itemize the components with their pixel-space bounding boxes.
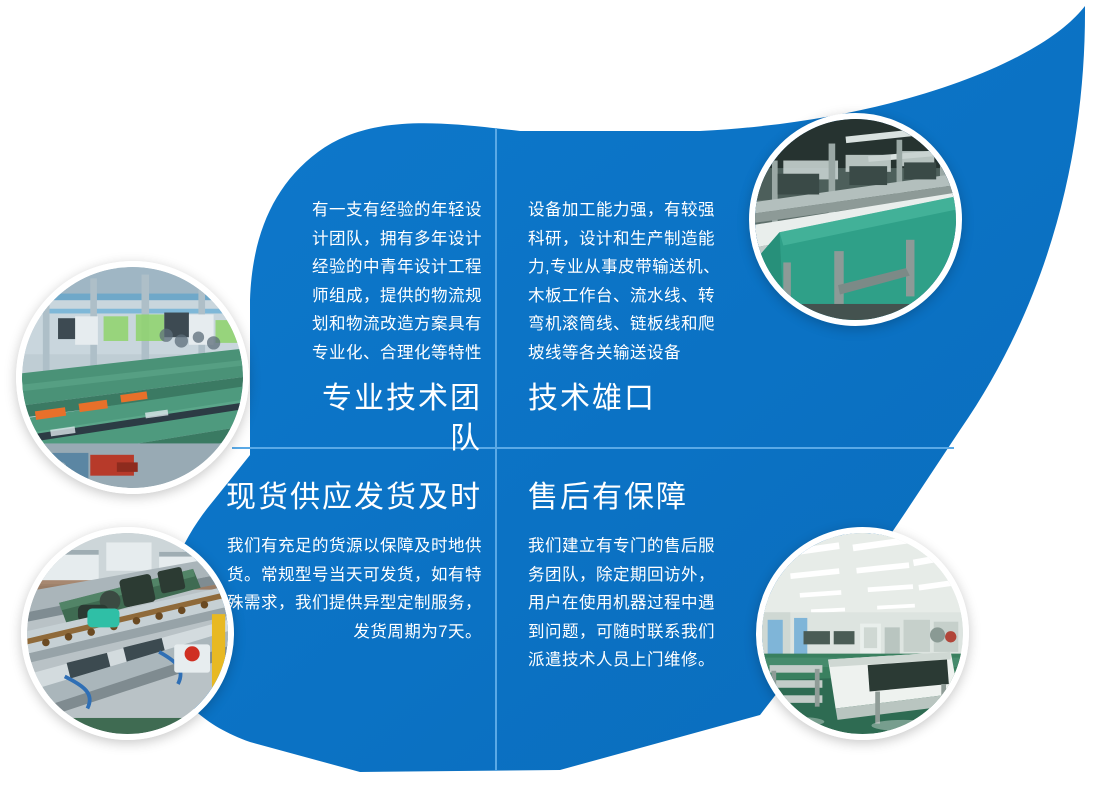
promo-banner: 有一支有经验的年轻设计团队，拥有多年设计经验的中青年设计工程师组成，提供的物流规… (0, 0, 1101, 785)
workbench-conveyor-photo-image (755, 119, 956, 320)
feature-1-description: 有一支有经验的年轻设计团队，拥有多年设计经验的中青年设计工程师组成，提供的物流规… (300, 196, 482, 367)
feature-4-description: 我们建立有专门的售后服务团队，除定期回访外，用户在使用机器过程中遇到问题，可随时… (528, 532, 728, 675)
feature-1-title: 专业技术团队 (300, 379, 482, 459)
feature-3-title: 现货供应发货及时 (222, 478, 482, 518)
workbench-conveyor-photo (749, 113, 962, 326)
cleanroom-line-photo-image (762, 533, 963, 734)
feature-quadrant-4: 售后有保障 我们建立有专门的售后服务团队，除定期回访外，用户在使用机器过程中遇到… (528, 478, 728, 675)
feature-2-description: 设备加工能力强，有较强科研，设计和生产制造能力,专业从事皮带输送机、木板工作台、… (528, 196, 728, 367)
cleanroom-line-photo (756, 527, 969, 740)
quadrant-divider-vertical (495, 128, 497, 771)
feature-2-title: 技术雄口 (528, 379, 728, 419)
assembly-line-photo-image (22, 267, 243, 488)
chain-conveyor-photo (21, 527, 234, 740)
feature-quadrant-3: 现货供应发货及时 我们有充足的货源以保障及时地供货。常规型号当天可发货，如有特殊… (222, 478, 482, 646)
feature-quadrant-1: 有一支有经验的年轻设计团队，拥有多年设计经验的中青年设计工程师组成，提供的物流规… (300, 196, 482, 459)
feature-quadrant-2: 设备加工能力强，有较强科研，设计和生产制造能力,专业从事皮带输送机、木板工作台、… (528, 196, 728, 419)
assembly-line-photo (16, 261, 249, 494)
feature-4-title: 售后有保障 (528, 478, 728, 518)
chain-conveyor-photo-image (27, 533, 228, 734)
feature-3-description: 我们有充足的货源以保障及时地供货。常规型号当天可发货，如有特殊需求，我们提供异型… (222, 532, 482, 646)
